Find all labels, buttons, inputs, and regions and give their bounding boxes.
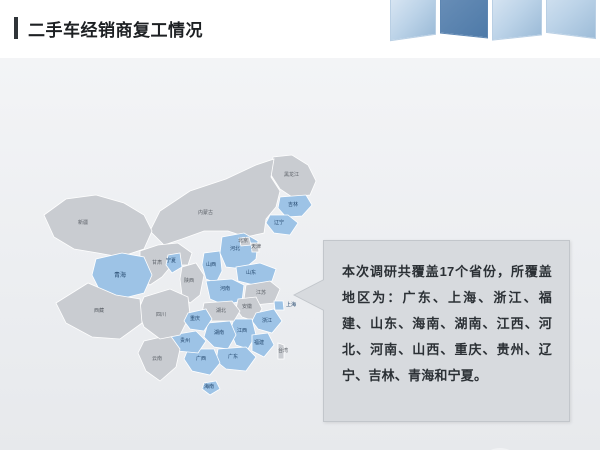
province-zhejiang [252,309,282,333]
slide: 二手车经销商复工情况 [0,0,600,450]
province-jilin [278,195,312,217]
decorative-cube-3 [492,0,542,41]
watermark: 中车 二手车网联 [478,446,570,450]
province-inner-mongolia [150,159,280,245]
slide-body: 黑龙江 吉林 辽宁 内蒙古 新疆 甘肃 青海 宁夏 陕西 山西 河北 北京 天津… [0,58,600,450]
province-sichuan [138,289,190,339]
province-fujian [252,333,274,357]
slide-header: 二手车经销商复工情况 [0,0,600,58]
province-shanghai [274,301,284,310]
province-tianjin [251,243,259,252]
province-ningxia [166,253,182,273]
province-xinjiang [44,195,152,257]
province-beijing [239,237,251,246]
province-shanxi [202,251,222,283]
province-guangxi [184,349,220,375]
province-liaoning [266,215,298,235]
callout-text: 本次调研共覆盖17个省份，所覆盖地区为：广东、上海、浙江、福建、山东、海南、湖南… [342,259,552,389]
page-title: 二手车经销商复工情况 [28,16,203,41]
province-taiwan [278,343,284,359]
decorative-cube-1 [390,0,436,41]
callout-box: 本次调研共覆盖17个省份，所覆盖地区为：广东、上海、浙江、福建、山东、海南、湖南… [323,240,570,422]
callout-tail [295,280,324,310]
province-hainan [202,381,220,395]
header-accent-bar [14,17,18,39]
province-yunnan [138,335,180,381]
province-guangdong [216,347,256,371]
decorative-cube-2 [440,0,488,39]
decorative-cube-4 [546,0,596,39]
province-hunan [204,321,236,349]
